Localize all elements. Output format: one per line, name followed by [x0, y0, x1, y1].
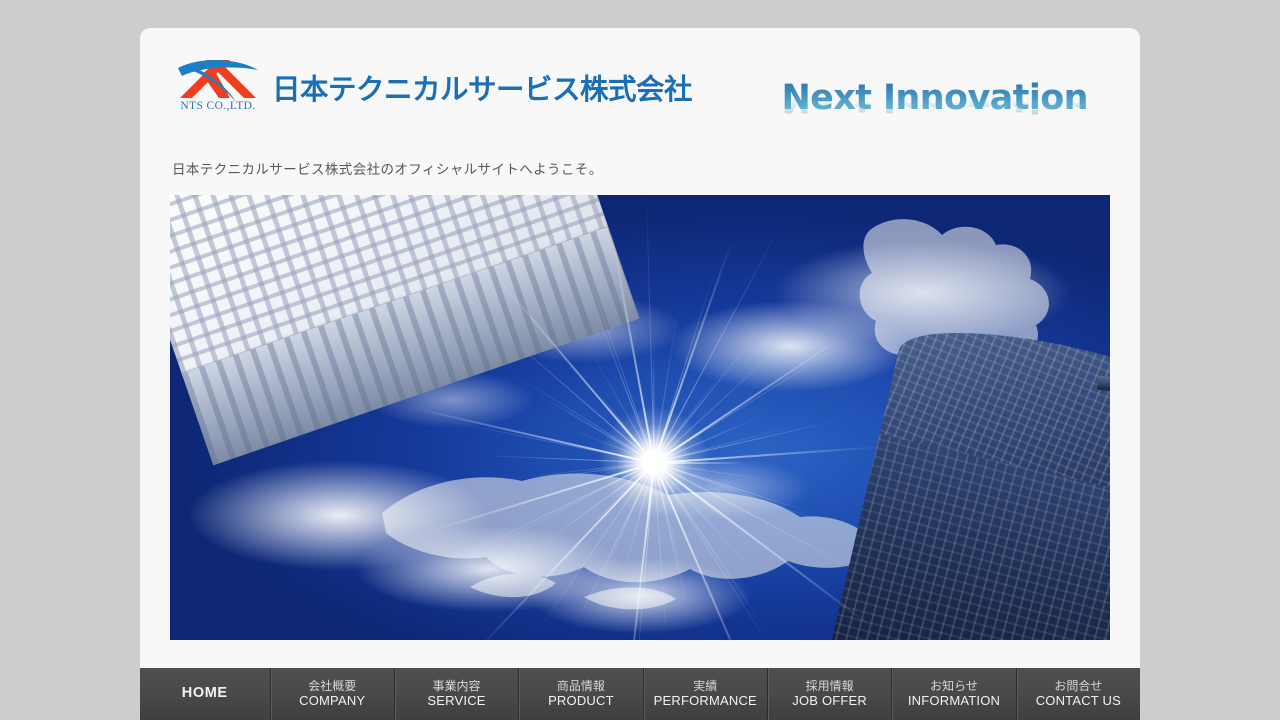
tagline-reflection: Next Innovation	[781, 97, 1088, 119]
company-name: 日本テクニカルサービス株式会社	[272, 67, 692, 108]
nav-item-en-label: PRODUCT	[548, 693, 614, 708]
hero-image	[170, 195, 1110, 640]
nav-item-job-offer[interactable]: 採用情報 JOB OFFER	[767, 668, 891, 720]
nav-item-jp-label: お知らせ	[930, 679, 978, 693]
nav-item-en-label: CONTACT US	[1036, 693, 1121, 708]
nav-item-company[interactable]: 会社概要 COMPANY	[270, 668, 394, 720]
nav-item-jp-label: お問合せ	[1054, 679, 1102, 693]
nav-item-en-label: JOB OFFER	[792, 693, 867, 708]
nav-item-service[interactable]: 事業内容 SERVICE	[394, 668, 518, 720]
nav-item-jp-label: 採用情報	[806, 679, 854, 693]
site-header: NTS CO.,LTD. 日本テクニカルサービス株式会社 Next Innova…	[140, 28, 1140, 148]
nav-item-en-label: PERFORMANCE	[654, 693, 757, 708]
nav-item-jp-label: 商品情報	[557, 679, 605, 693]
welcome-message: 日本テクニカルサービス株式会社のオフィシャルサイトへようこそ。	[172, 158, 603, 178]
site-logo-link[interactable]: NTS CO.,LTD. 日本テクニカルサービス株式会社	[172, 54, 692, 126]
nav-item-en-label: SERVICE	[427, 693, 485, 708]
logo-subtext: NTS CO.,LTD.	[172, 100, 264, 112]
nav-item-information[interactable]: お知らせ INFORMATION	[891, 668, 1015, 720]
nts-x-mark-icon: NTS CO.,LTD.	[172, 54, 264, 126]
nav-item-jp-label: 事業内容	[433, 679, 481, 693]
tagline-next-innovation: Next Innovation Next Innovation	[781, 78, 1088, 141]
main-navigation: HOME 会社概要 COMPANY 事業内容 SERVICE 商品情報 PROD…	[140, 668, 1140, 720]
nav-item-en-label: HOME	[182, 685, 228, 702]
nav-item-jp-label: 実績	[693, 679, 717, 693]
nav-item-performance[interactable]: 実績 PERFORMANCE	[643, 668, 767, 720]
nav-item-product[interactable]: 商品情報 PRODUCT	[518, 668, 642, 720]
nav-item-en-label: COMPANY	[299, 693, 365, 708]
nav-item-home[interactable]: HOME	[140, 668, 270, 720]
nav-item-jp-label: 会社概要	[308, 679, 356, 693]
page-container: NTS CO.,LTD. 日本テクニカルサービス株式会社 Next Innova…	[140, 28, 1140, 720]
nav-item-en-label: INFORMATION	[908, 693, 1000, 708]
nav-item-contact-us[interactable]: お問合せ CONTACT US	[1016, 668, 1140, 720]
